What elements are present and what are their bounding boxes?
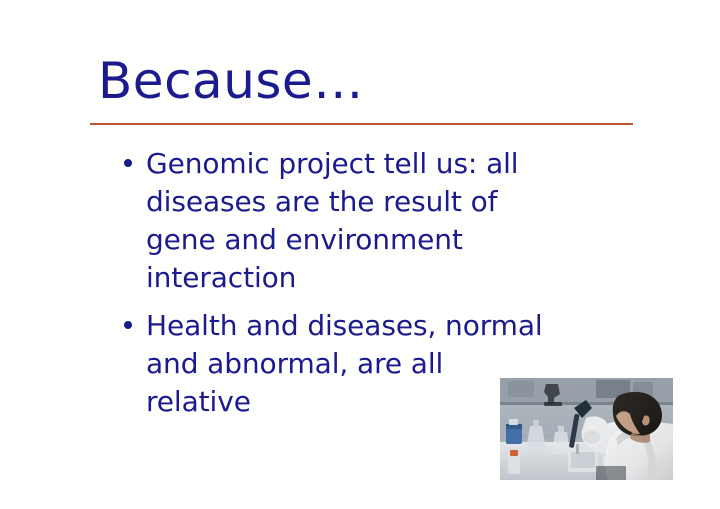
laboratory-photo [500, 378, 673, 480]
bullet-dot-icon [124, 159, 132, 167]
bullet-list: Genomic project tell us: all diseases ar… [122, 145, 552, 431]
laboratory-photo-graphic [500, 378, 673, 480]
presentation-slide: Because… Genomic project tell us: all di… [0, 0, 720, 509]
list-item: Health and diseases, normal and abnormal… [122, 307, 552, 421]
list-item: Genomic project tell us: all diseases ar… [122, 145, 552, 297]
list-item-label: Genomic project tell us: all diseases ar… [146, 145, 552, 297]
bullet-dot-icon [124, 321, 132, 329]
title-divider [90, 123, 633, 125]
list-item-label: Health and diseases, normal and abnormal… [146, 307, 552, 421]
page-title: Because… [98, 52, 364, 110]
